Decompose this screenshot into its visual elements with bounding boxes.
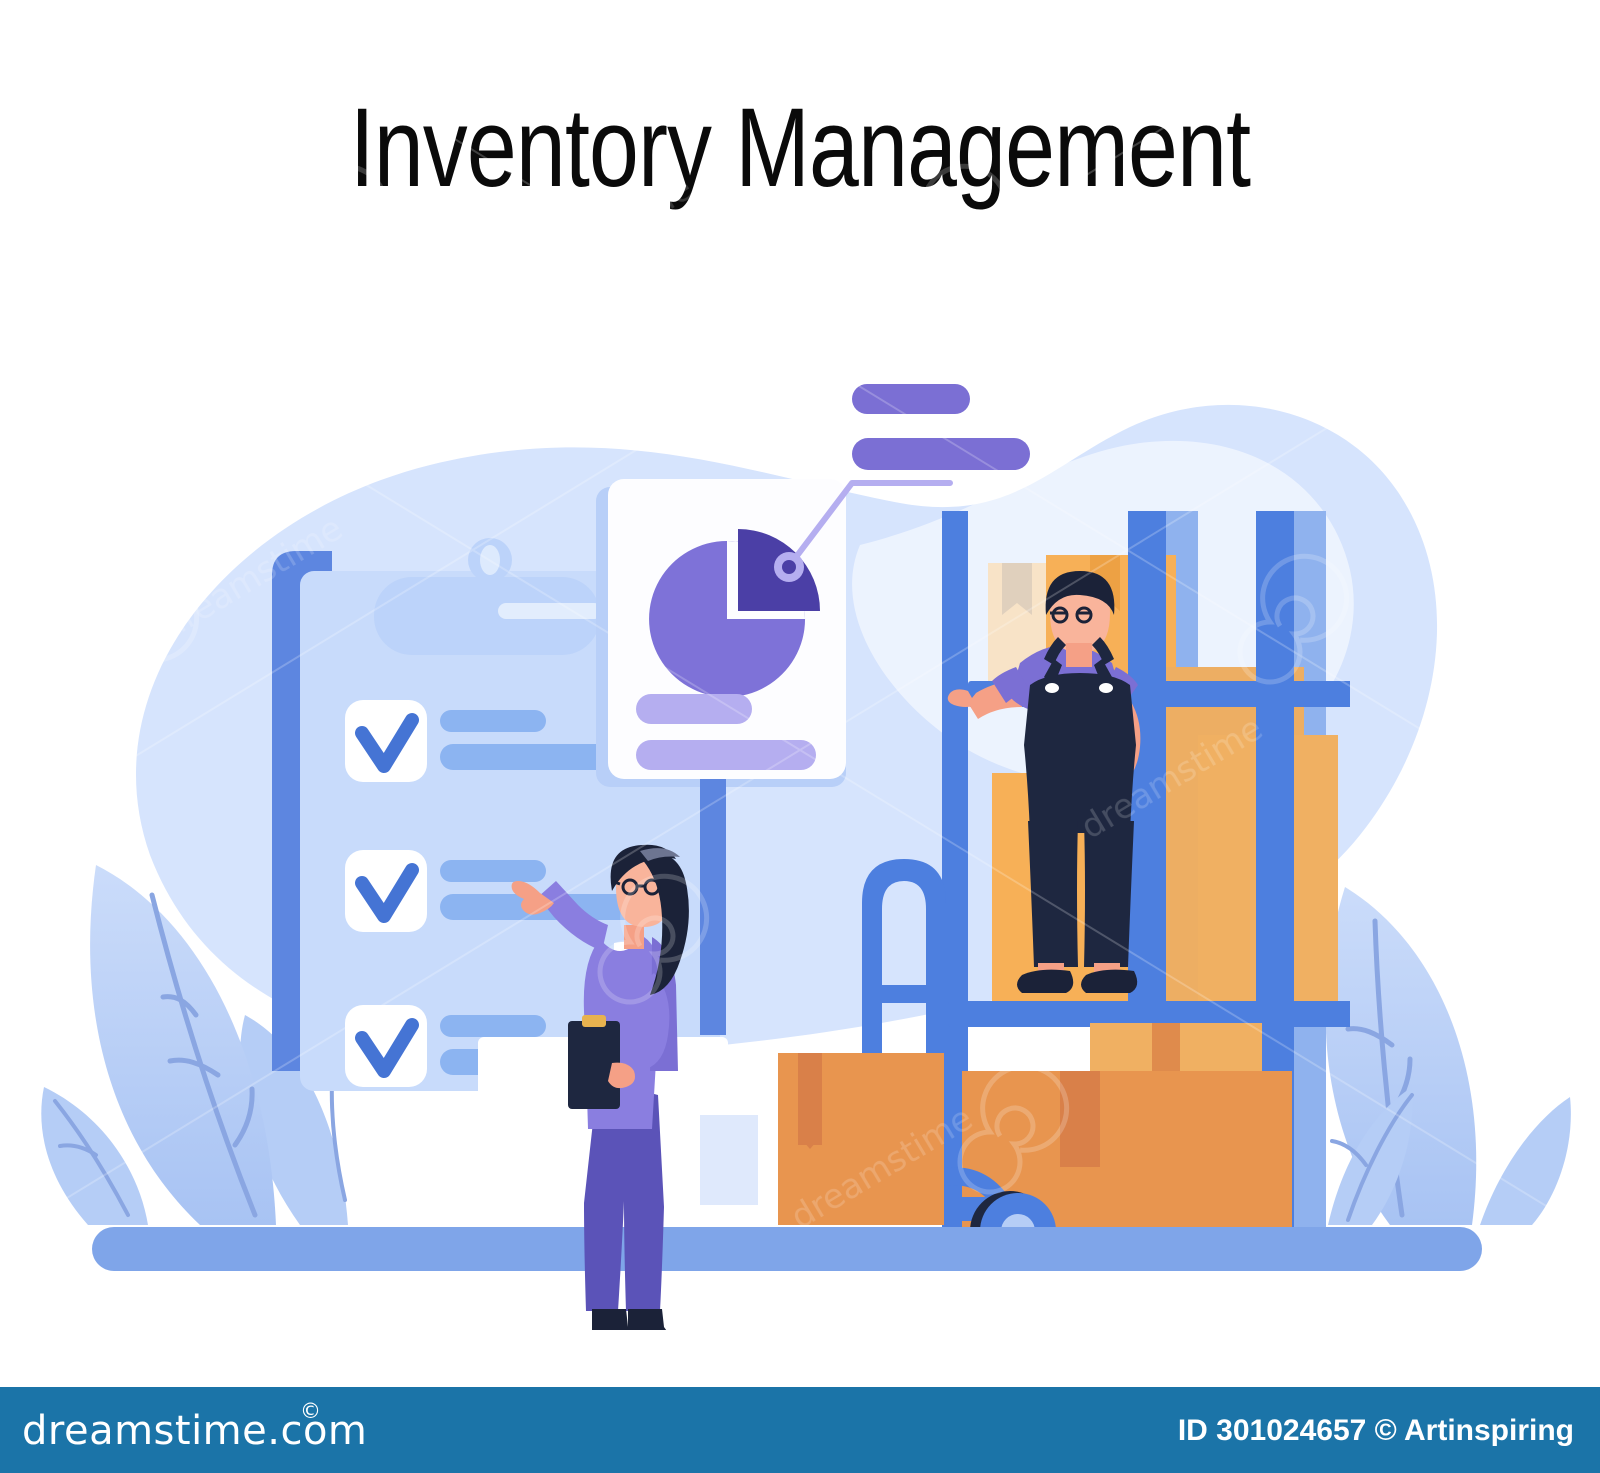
footer-bar: dreamstime.com © ID 301024657 © Artinspi…: [0, 1387, 1600, 1473]
ground-bar: [92, 1227, 1482, 1271]
doc-text-bar-short: [636, 694, 752, 724]
callout-label-bar-2: [852, 438, 1030, 470]
cardboard-boxes: [778, 1053, 944, 1225]
storage-rack: [942, 511, 1358, 1271]
illustration-page: Inventory Management: [0, 0, 1600, 1473]
image-credit: ID 301024657 © Artinspiring: [1178, 1413, 1574, 1449]
page-title: Inventory Management: [160, 92, 1440, 204]
doc-text-bar-long: [636, 740, 816, 770]
callout-label-bar-1: [852, 384, 970, 414]
inventory-management-illustration: [0, 215, 1600, 1330]
registered-mark-icon: ©: [300, 1399, 321, 1423]
leaf-cluster-right: [1326, 887, 1571, 1225]
